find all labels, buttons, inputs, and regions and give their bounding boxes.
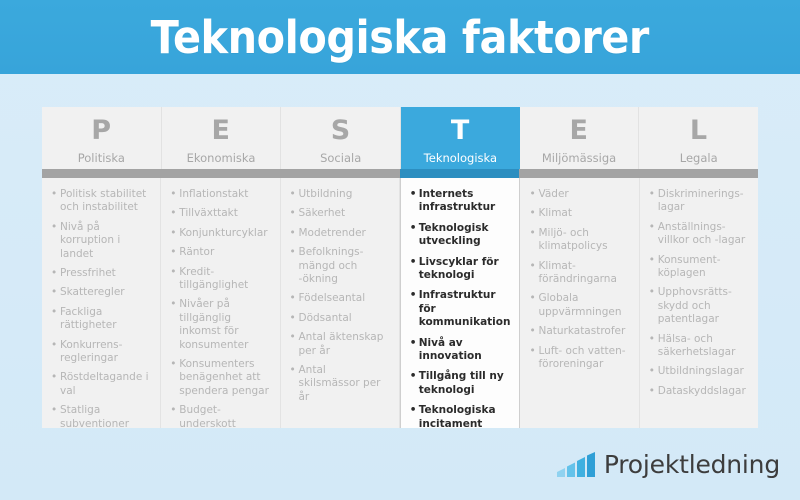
list-item: Teknologisk utveckling bbox=[410, 222, 511, 249]
list-item: Politisk stabilitet och instabilitet bbox=[51, 188, 151, 215]
list-item: Utbildning bbox=[290, 188, 390, 201]
list-item: Nivå av innovation bbox=[410, 337, 511, 364]
list-item: Konsumenters benägenhet att spendera pen… bbox=[170, 358, 270, 398]
column-header-teknologiska[interactable]: T Teknologiska bbox=[401, 107, 520, 169]
list-item: Antal äktenskap per år bbox=[290, 331, 390, 358]
column-letter: L bbox=[690, 117, 708, 145]
list-item: Befolknings-mängd och -ökning bbox=[290, 246, 390, 286]
list-item: Pressfrihet bbox=[51, 267, 151, 280]
list-item: Dataskyddslagar bbox=[649, 385, 749, 398]
column-header-sociala[interactable]: S Sociala bbox=[281, 107, 401, 169]
column-body-politiska: Politisk stabilitet och instabilitet Niv… bbox=[42, 178, 161, 428]
list-item: Inflationstakt bbox=[170, 188, 270, 201]
list-item: Diskriminerings-lagar bbox=[649, 188, 749, 215]
column-letter: T bbox=[451, 117, 470, 145]
list-item: Hälsa- och säkerhetslagar bbox=[649, 333, 749, 360]
list-item: Budget-underskott bbox=[170, 404, 270, 431]
list-item: Kredit-tillgänglighet bbox=[170, 266, 270, 293]
column-body-ekonomiska: Inflationstakt Tillväxttakt Konjunkturcy… bbox=[161, 178, 280, 428]
rule-segment-active bbox=[400, 169, 519, 178]
brand-name: Projektledning bbox=[604, 452, 780, 478]
list-item: Nivåer på tillgänglig inkomst för konsum… bbox=[170, 298, 270, 352]
list-item: Fackliga rättigheter bbox=[51, 306, 151, 333]
factor-list: Inflationstakt Tillväxttakt Konjunkturcy… bbox=[170, 188, 270, 431]
column-label: Sociala bbox=[320, 151, 361, 165]
column-header-ekonomiska[interactable]: E Ekonomiska bbox=[162, 107, 282, 169]
list-item: Skatteregler bbox=[51, 286, 151, 299]
table-body-row: Politisk stabilitet och instabilitet Niv… bbox=[42, 178, 758, 428]
column-letter: E bbox=[570, 117, 589, 145]
list-item: Modetrender bbox=[290, 227, 390, 240]
list-item: Födelseantal bbox=[290, 292, 390, 305]
rule-segment bbox=[281, 169, 400, 178]
list-item: Upphovsrätts-skydd och patentlagar bbox=[649, 286, 749, 326]
rule-segment bbox=[161, 169, 280, 178]
rule-segment bbox=[639, 169, 758, 178]
column-body-legala: Diskriminerings-lagar Anställnings-villk… bbox=[640, 178, 758, 428]
list-item: Antal skilsmässor per år bbox=[290, 364, 390, 404]
column-letter: P bbox=[91, 117, 111, 145]
column-header-legala[interactable]: L Legala bbox=[639, 107, 758, 169]
list-item: Klimat-förändringarna bbox=[529, 260, 629, 287]
column-label: Miljömässiga bbox=[542, 151, 616, 165]
list-item: Konkurrens-regleringar bbox=[51, 339, 151, 366]
factor-list: Väder Klimat Miljö- och klimatpolicys Kl… bbox=[529, 188, 629, 371]
column-letter: S bbox=[331, 117, 351, 145]
header-banner: Teknologiska faktorer bbox=[0, 0, 800, 74]
column-label: Ekonomiska bbox=[187, 151, 256, 165]
list-item: Säkerhet bbox=[290, 207, 390, 220]
column-letter: E bbox=[212, 117, 231, 145]
column-label: Teknologiska bbox=[424, 151, 497, 165]
list-item: Konsument-köplagen bbox=[649, 254, 749, 281]
list-item: Globala uppvärmningen bbox=[529, 292, 629, 319]
list-item: Internets infrastruktur bbox=[410, 188, 511, 215]
list-item: Konjunkturcyklar bbox=[170, 227, 270, 240]
page-title: Teknologiska faktorer bbox=[151, 15, 649, 60]
list-item: Anställnings-villkor och -lagar bbox=[649, 221, 749, 248]
pestel-table: P Politiska E Ekonomiska S Sociala T Tek… bbox=[42, 107, 758, 428]
list-item: Utbildningslagar bbox=[649, 365, 749, 378]
factor-list: Utbildning Säkerhet Modetrender Befolkni… bbox=[290, 188, 390, 404]
column-label: Legala bbox=[680, 151, 718, 165]
column-header-politiska[interactable]: P Politiska bbox=[42, 107, 162, 169]
column-body-teknologiska: Internets infrastruktur Teknologisk utve… bbox=[400, 178, 521, 428]
column-body-miljomassiga: Väder Klimat Miljö- och klimatpolicys Kl… bbox=[520, 178, 639, 428]
list-item: Räntor bbox=[170, 246, 270, 259]
table-header-row: P Politiska E Ekonomiska S Sociala T Tek… bbox=[42, 107, 758, 169]
brand-logo[interactable]: Projektledning bbox=[557, 452, 780, 478]
footer: Projektledning bbox=[0, 444, 800, 500]
list-item: Röstdeltagande i val bbox=[51, 371, 151, 398]
rule-segment bbox=[42, 169, 161, 178]
column-header-miljomassiga[interactable]: E Miljömässiga bbox=[520, 107, 640, 169]
list-item: Klimat bbox=[529, 207, 629, 220]
bar-chart-icon bbox=[557, 452, 597, 478]
list-item: Luft- och vatten-föroreningar bbox=[529, 345, 629, 372]
rule-segment bbox=[519, 169, 638, 178]
list-item: Naturkatastrofer bbox=[529, 325, 629, 338]
list-item: Livscyklar för teknologi bbox=[410, 256, 511, 283]
list-item: Tillväxttakt bbox=[170, 207, 270, 220]
header-underline-rule bbox=[42, 169, 758, 178]
column-body-sociala: Utbildning Säkerhet Modetrender Befolkni… bbox=[281, 178, 400, 428]
list-item: Dödsantal bbox=[290, 312, 390, 325]
list-item: Tillgång till ny teknologi bbox=[410, 370, 511, 397]
infographic-page: Teknologiska faktorer P Politiska E Ekon… bbox=[0, 0, 800, 500]
list-item: Nivå på korruption i landet bbox=[51, 221, 151, 261]
list-item: Infrastruktur för kommunikation bbox=[410, 289, 511, 329]
list-item: Statliga subventioner bbox=[51, 404, 151, 431]
list-item: Teknologiska incitament bbox=[410, 404, 511, 431]
list-item: Väder bbox=[529, 188, 629, 201]
factor-list: Politisk stabilitet och instabilitet Niv… bbox=[51, 188, 151, 431]
column-label: Politiska bbox=[78, 151, 125, 165]
list-item: Miljö- och klimatpolicys bbox=[529, 227, 629, 254]
factor-list: Diskriminerings-lagar Anställnings-villk… bbox=[649, 188, 749, 398]
factor-list: Internets infrastruktur Teknologisk utve… bbox=[410, 188, 511, 431]
